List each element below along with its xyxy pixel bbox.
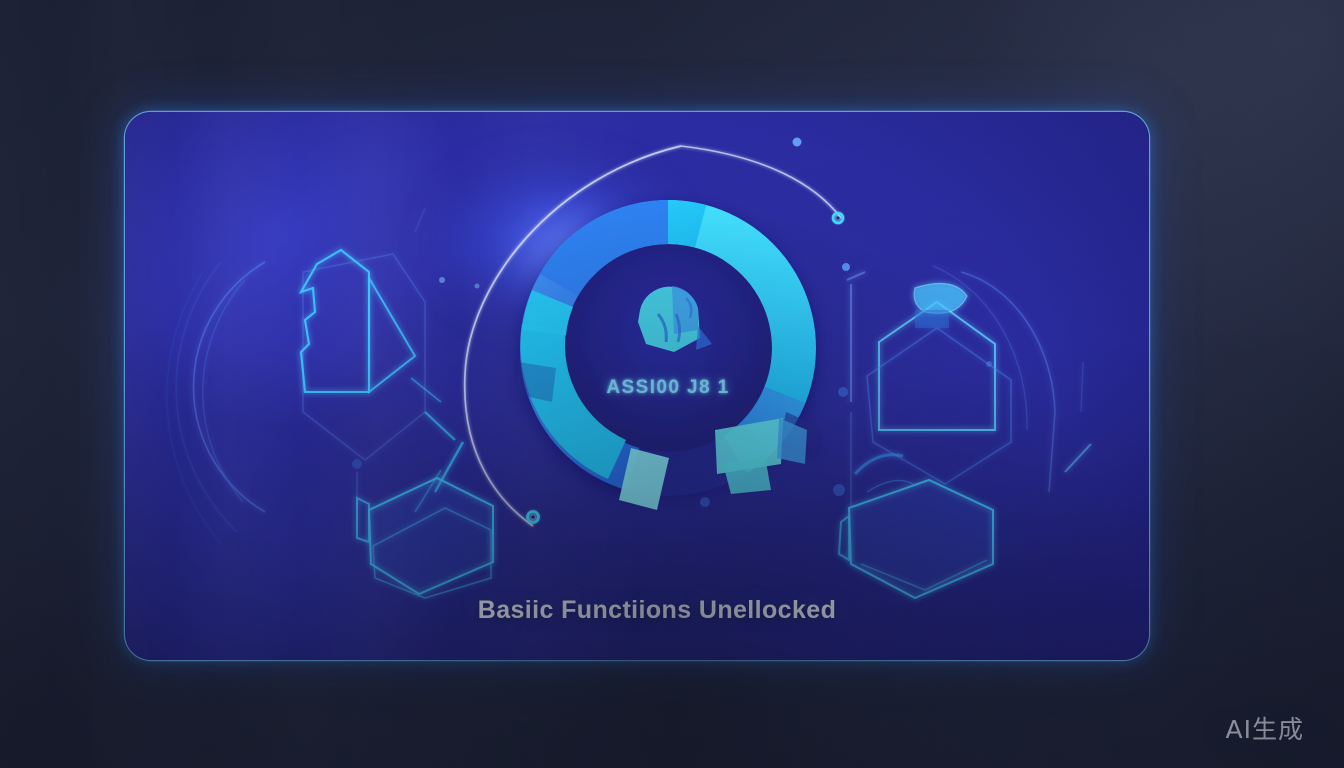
- card-edge-shade: [125, 112, 1149, 660]
- scene-background: ASSI00 J8 1 Basiic Functiions Unellocked…: [0, 0, 1344, 768]
- ai-generated-watermark: AI生成: [1204, 707, 1326, 754]
- donut-gap: [626, 435, 748, 496]
- donut-segment-2: [520, 270, 639, 491]
- donut-segment-1: [723, 387, 805, 474]
- edge-accents: [415, 208, 1091, 472]
- donut-highlight-left: [521, 324, 626, 479]
- card-glow-top-left: [125, 112, 485, 422]
- shield-outline-right: [847, 266, 1055, 508]
- donut-segment-4: [540, 200, 668, 296]
- orbit-node-lower-left: [524, 508, 542, 526]
- donut-segment-3: [543, 200, 707, 293]
- center-code-label: ASSI00 J8 1: [156, 377, 1149, 399]
- card-glow-bottom-left: [125, 430, 465, 660]
- orbit-node-upper-right: [830, 210, 846, 226]
- globe-icon: [638, 286, 712, 352]
- donut-notch-left: [516, 362, 556, 402]
- nebula-blob: [425, 152, 685, 332]
- donut-segment-0: [668, 200, 816, 403]
- left-decor-arcs: [167, 262, 265, 544]
- card-caption: Basiic Functiions Unellocked: [145, 596, 1149, 625]
- donut-chart: [125, 112, 1149, 660]
- orbit-arc: [465, 146, 841, 526]
- donut-highlight-left-upper: [522, 290, 573, 335]
- feature-card: ASSI00 J8 1 Basiic Functiions Unellocked: [125, 112, 1149, 660]
- card-texture: [125, 112, 1149, 660]
- nebula-blob-highlight: [497, 198, 647, 308]
- decorative-line-art: [125, 112, 1149, 660]
- card-center-stack: ASSI00 J8 1 Basiic Functiions Unellocked: [125, 112, 1149, 660]
- particle-dots: [352, 138, 992, 508]
- hex-card-bottom-left: [357, 478, 493, 598]
- shield-outline-left: [301, 250, 463, 532]
- donut-fragments: [619, 418, 807, 510]
- hex-card-bottom-right: [839, 455, 993, 598]
- donut-notch-right: [780, 412, 818, 452]
